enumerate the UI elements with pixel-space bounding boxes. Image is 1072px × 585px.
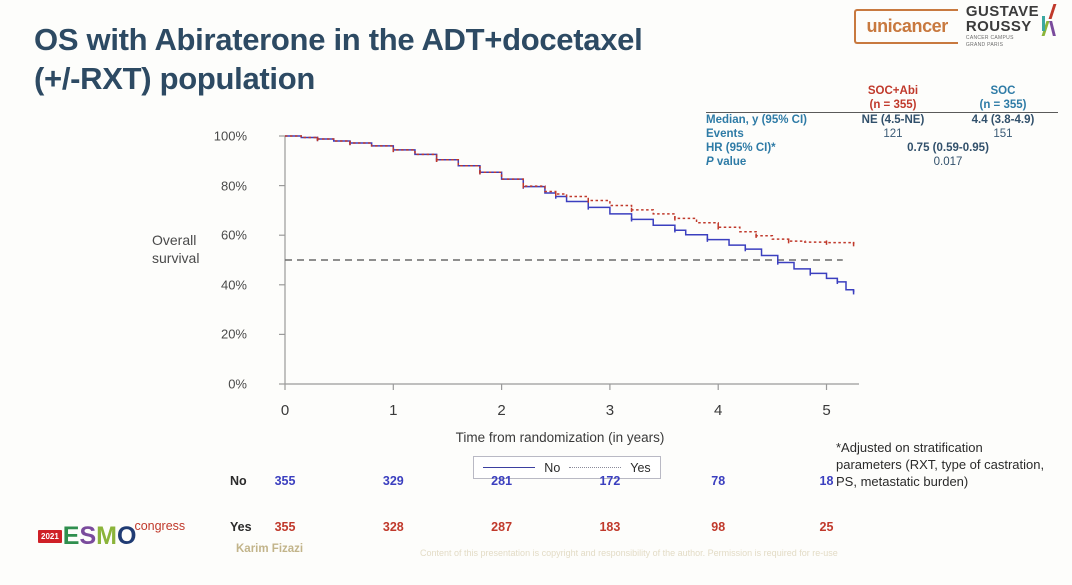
stats-median-soc-abi: NE (4.5-NE): [838, 113, 948, 127]
risk-count: 172: [599, 474, 620, 488]
x-axis-label-text: Time from randomization (in years): [456, 430, 665, 445]
gustave-slash-mark-icon: [1042, 4, 1058, 38]
gustave-sub-1: CANCER CAMPUS: [966, 36, 1039, 41]
stats-hr-value: 0.75 (0.59-0.95): [838, 141, 1058, 155]
esmo-letter-m: M: [96, 524, 117, 549]
y-tick-label: 60%: [221, 228, 247, 243]
x-axis-label: Time from randomization (in years): [255, 430, 865, 445]
km-plot-svg: [255, 128, 865, 392]
gustave-line-2: ROUSSY: [966, 19, 1039, 34]
km-curve-yes: [285, 136, 854, 244]
stats-header-n-row: (n = 355) (n = 355): [706, 98, 1058, 113]
unicancer-logo: unicancer: [854, 9, 955, 44]
gustave-text: GUSTAVE ROUSSY CANCER CAMPUS GRAND PARIS: [966, 4, 1039, 48]
author-name: Karim Fizazi: [236, 543, 303, 555]
y-tick-label: 0%: [228, 377, 247, 392]
stats-events-soc: 151: [948, 127, 1058, 141]
footnote: *Adjusted on stratification parameters (…: [836, 440, 1046, 491]
risk-row-yes: Yes 3553282871839825: [230, 520, 870, 536]
esmo-congress-label: congress: [134, 519, 185, 533]
risk-count: 25: [820, 520, 834, 534]
x-tick-label: 3: [606, 402, 614, 419]
y-tick-label: 80%: [221, 178, 247, 193]
x-tick-label: 1: [389, 402, 397, 419]
bracket-bottom: [949, 42, 958, 44]
y-axis-label-text: Overall survival: [152, 232, 199, 266]
esmo-letter-s: S: [79, 524, 96, 549]
stats-median-soc: 4.4 (3.8-4.9): [948, 113, 1058, 127]
stats-pvalue-value: 0.017: [838, 155, 1058, 169]
stats-header-soc: SOC: [948, 84, 1058, 98]
esmo-letter-e: E: [63, 524, 80, 549]
esmo-logo: 2021 E S M O congress: [38, 521, 185, 551]
page-title: OS with Abiraterone in the ADT+docetaxel…: [34, 20, 754, 98]
risk-count: 78: [711, 474, 725, 488]
slide: OS with Abiraterone in the ADT+docetaxel…: [0, 0, 1072, 585]
title-line-2: (+/-RXT) population: [34, 59, 754, 98]
stats-header-soc-n: (n = 355): [948, 98, 1058, 113]
y-tick-label: 100%: [214, 129, 247, 144]
gustave-roussy-logo: GUSTAVE ROUSSY CANCER CAMPUS GRAND PARIS: [966, 4, 1058, 48]
y-tick-label: 40%: [221, 277, 247, 292]
risk-count: 329: [383, 474, 404, 488]
risk-count: 328: [383, 520, 404, 534]
legend-swatch-no: [483, 467, 535, 468]
x-tick-label: 5: [822, 402, 830, 419]
risk-row-no: No 3553292811727818: [230, 474, 870, 490]
x-tick-label: 0: [281, 402, 289, 419]
km-curve-no: [285, 136, 854, 292]
y-tick-label: 20%: [221, 327, 247, 342]
x-tick-label: 4: [714, 402, 722, 419]
risk-row-label-yes: Yes: [230, 520, 252, 534]
copyright-notice: Content of this presentation is copyrigh…: [420, 548, 1040, 558]
footnote-text: *Adjusted on stratification parameters (…: [836, 440, 1044, 489]
gustave-line-1: GUSTAVE: [966, 4, 1039, 19]
stats-header-soc-abi: SOC+Abi: [838, 84, 948, 98]
risk-count: 287: [491, 520, 512, 534]
risk-count: 355: [275, 474, 296, 488]
risk-count: 355: [275, 520, 296, 534]
stats-label-median: Median, y (95% CI): [706, 113, 838, 127]
bracket-top: [949, 9, 958, 11]
stats-header-row: SOC+Abi SOC: [706, 84, 1058, 98]
esmo-year: 2021: [38, 530, 62, 543]
legend-label-no: No: [544, 461, 560, 475]
sponsor-logos: unicancer GUSTAVE ROUSSY CANCER CAMPUS G…: [854, 4, 1058, 48]
risk-count: 183: [599, 520, 620, 534]
gustave-sub-2: GRAND PARIS: [966, 43, 1039, 48]
legend-swatch-yes: [569, 467, 621, 468]
legend-label-yes: Yes: [630, 461, 650, 475]
risk-row-label-no: No: [230, 474, 247, 488]
kaplan-meier-chart: 0%20%40%60%80%100%012345: [255, 128, 865, 392]
risk-count: 18: [820, 474, 834, 488]
x-tick-label: 2: [497, 402, 505, 419]
title-line-1: OS with Abiraterone in the ADT+docetaxel: [34, 20, 754, 59]
risk-count: 98: [711, 520, 725, 534]
risk-count: 281: [491, 474, 512, 488]
stats-row-median: Median, y (95% CI) NE (4.5-NE) 4.4 (3.8-…: [706, 113, 1058, 127]
stats-header-soc-abi-n: (n = 355): [838, 98, 948, 113]
unicancer-label: unicancer: [866, 16, 947, 36]
